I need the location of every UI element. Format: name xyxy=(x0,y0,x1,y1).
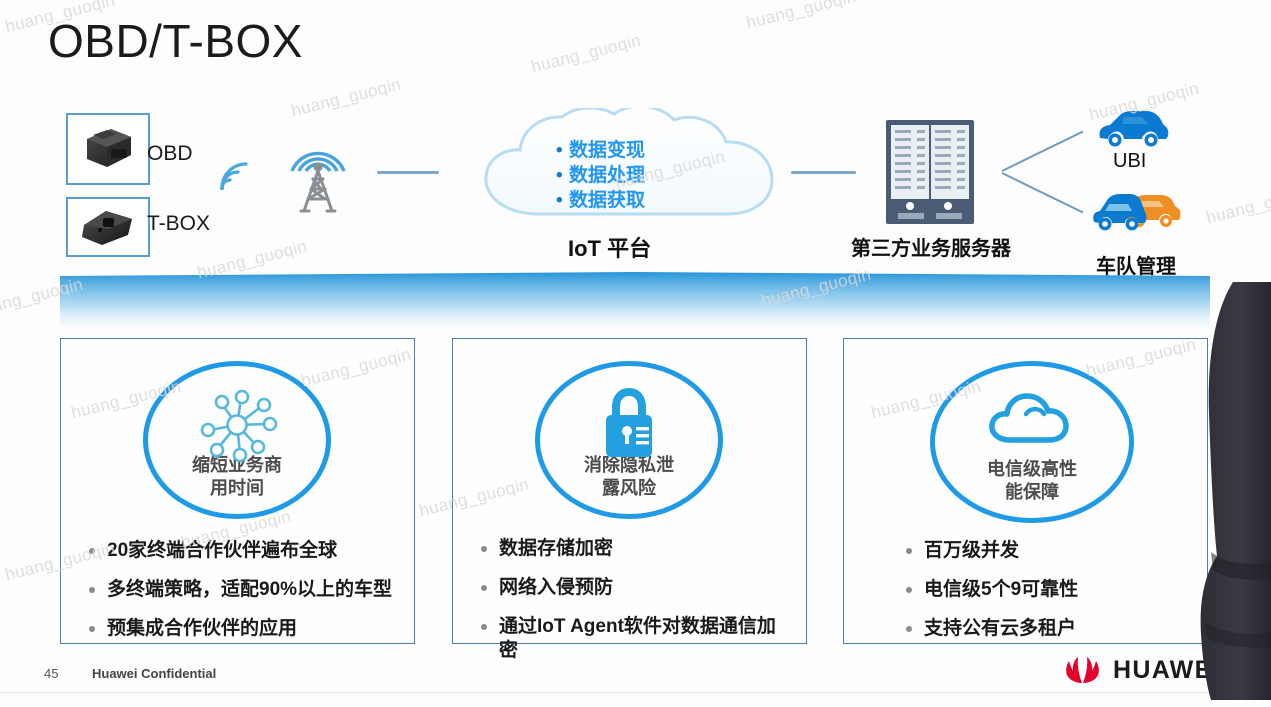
panel-0-bullet-2: 预集成合作伙伴的应用 xyxy=(107,617,297,641)
ubi-label: UBI xyxy=(1113,150,1146,173)
panel-0-bullet-0: 20家终端合作伙伴遍布全球 xyxy=(107,539,337,563)
panel-2-title-line2: 能保障 xyxy=(987,481,1077,504)
bullet-dot xyxy=(89,587,95,593)
footer-divider xyxy=(0,692,1271,693)
page-title: OBD/T-BOX xyxy=(48,14,303,68)
connector-server-fleet xyxy=(1002,172,1084,213)
network-nodes-icon xyxy=(194,388,280,462)
iot-platform-label: IoT 平台 xyxy=(568,231,651,263)
panel-0-circle-text: 缩短业务商 用时间 xyxy=(192,454,282,514)
panel-2-title-line1: 电信级高性 xyxy=(987,458,1077,481)
panel-2-bullet-1: 电信级5个9可靠性 xyxy=(924,578,1078,602)
cloud-items: •数据变现 •数据处理 •数据获取 xyxy=(556,138,746,213)
feature-panel-1: 消除隐私泄 露风险 数据存储加密 网络入侵预防 通过IoT Agent软件对数据… xyxy=(452,338,807,644)
watermark: huang_guoqin xyxy=(289,75,403,122)
bullet-dot xyxy=(481,546,487,552)
bullet-dot xyxy=(906,587,912,593)
panel-0-bullets: 20家终端合作伙伴遍布全球 多终端策略，适配90%以上的车型 预集成合作伙伴的应… xyxy=(89,539,400,656)
slide-canvas: OBD/T-BOX xyxy=(0,0,1271,707)
obd-device-box xyxy=(66,113,150,185)
two-cars-icon xyxy=(1090,192,1182,244)
list-item: 数据存储加密 xyxy=(481,537,792,561)
feature-panel-2: 电信级高性 能保障 百万级并发 电信级5个9可靠性 支持公有云多租户 xyxy=(843,338,1208,644)
panel-2-circle-text: 电信级高性 能保障 xyxy=(987,458,1077,518)
list-item: 多终端策略，适配90%以上的车型 xyxy=(89,578,400,602)
cloud-item-2: 数据获取 xyxy=(569,190,645,211)
connector-server-ubi xyxy=(1002,131,1084,172)
tbox-device-box xyxy=(66,197,150,257)
watermark: huang_guoqin xyxy=(529,31,643,78)
list-item: 支持公有云多租户 xyxy=(906,617,1193,641)
panel-1-bullet-2: 通过IoT Agent软件对数据通信加密 xyxy=(499,615,792,663)
panel-2-circle: 电信级高性 能保障 xyxy=(930,361,1134,523)
funnel-shape xyxy=(60,272,1210,334)
wifi-signal-icon xyxy=(214,158,250,194)
panel-0-title-line2: 用时间 xyxy=(192,477,282,500)
panel-1-bullet-1: 网络入侵预防 xyxy=(499,576,613,600)
bullet-dot xyxy=(481,624,487,630)
bullet-dot xyxy=(89,626,95,632)
tbox-device-photo xyxy=(76,205,140,249)
panel-1-circle: 消除隐私泄 露风险 xyxy=(535,361,723,519)
bullet-dot xyxy=(906,626,912,632)
list-item: 电信级5个9可靠性 xyxy=(906,578,1193,602)
watermark: huang_guoqin xyxy=(744,0,858,33)
panel-1-title-line2: 露风险 xyxy=(584,477,674,500)
server-rack-icon xyxy=(884,118,976,226)
confidential-label: Huawei Confidential xyxy=(92,666,216,681)
list-item: 预集成合作伙伴的应用 xyxy=(89,617,400,641)
list-item: 20家终端合作伙伴遍布全球 xyxy=(89,539,400,563)
padlock-icon xyxy=(596,386,662,462)
panel-2-bullets: 百万级并发 电信级5个9可靠性 支持公有云多租户 xyxy=(906,539,1193,656)
bullet-dot xyxy=(481,585,487,591)
panel-2-bullet-2: 支持公有云多租户 xyxy=(924,617,1076,641)
cloud-outline-icon xyxy=(986,390,1078,448)
blue-car-icon xyxy=(1096,108,1170,150)
panel-1-circle-text: 消除隐私泄 露风险 xyxy=(584,454,674,514)
cloud-item-1: 数据处理 xyxy=(569,165,645,186)
list-item: 百万级并发 xyxy=(906,539,1193,563)
panel-0-bullet-1: 多终端策略，适配90%以上的车型 xyxy=(107,578,392,602)
connector-tower-cloud xyxy=(377,171,439,174)
obd-label: OBD xyxy=(147,142,193,166)
cloud-item-0: 数据变现 xyxy=(569,140,645,161)
panel-2-bullet-0: 百万级并发 xyxy=(924,539,1019,563)
connector-cloud-server xyxy=(791,171,856,174)
page-number: 45 xyxy=(44,666,58,681)
panel-0-circle: 缩短业务商 用时间 xyxy=(143,361,331,519)
cell-tower-icon xyxy=(277,127,359,217)
huawei-flower-icon xyxy=(1062,655,1104,685)
list-item: 网络入侵预防 xyxy=(481,576,792,600)
tbox-label: T-BOX xyxy=(147,212,210,236)
panel-1-bullets: 数据存储加密 网络入侵预防 通过IoT Agent软件对数据通信加密 xyxy=(481,537,792,678)
fleet-label: 车队管理 xyxy=(1096,250,1176,279)
panel-1-bullet-0: 数据存储加密 xyxy=(499,537,613,561)
server-label: 第三方业务服务器 xyxy=(851,232,1011,261)
bullet-dot xyxy=(906,548,912,554)
list-item: 通过IoT Agent软件对数据通信加密 xyxy=(481,615,792,663)
presenter-silhouette xyxy=(1197,282,1271,700)
watermark: huang_guoqin xyxy=(1204,182,1271,229)
obd-device-photo xyxy=(77,123,139,175)
bullet-dot xyxy=(89,548,95,554)
feature-panel-0: 缩短业务商 用时间 20家终端合作伙伴遍布全球 多终端策略，适配90%以上的车型… xyxy=(60,338,415,644)
